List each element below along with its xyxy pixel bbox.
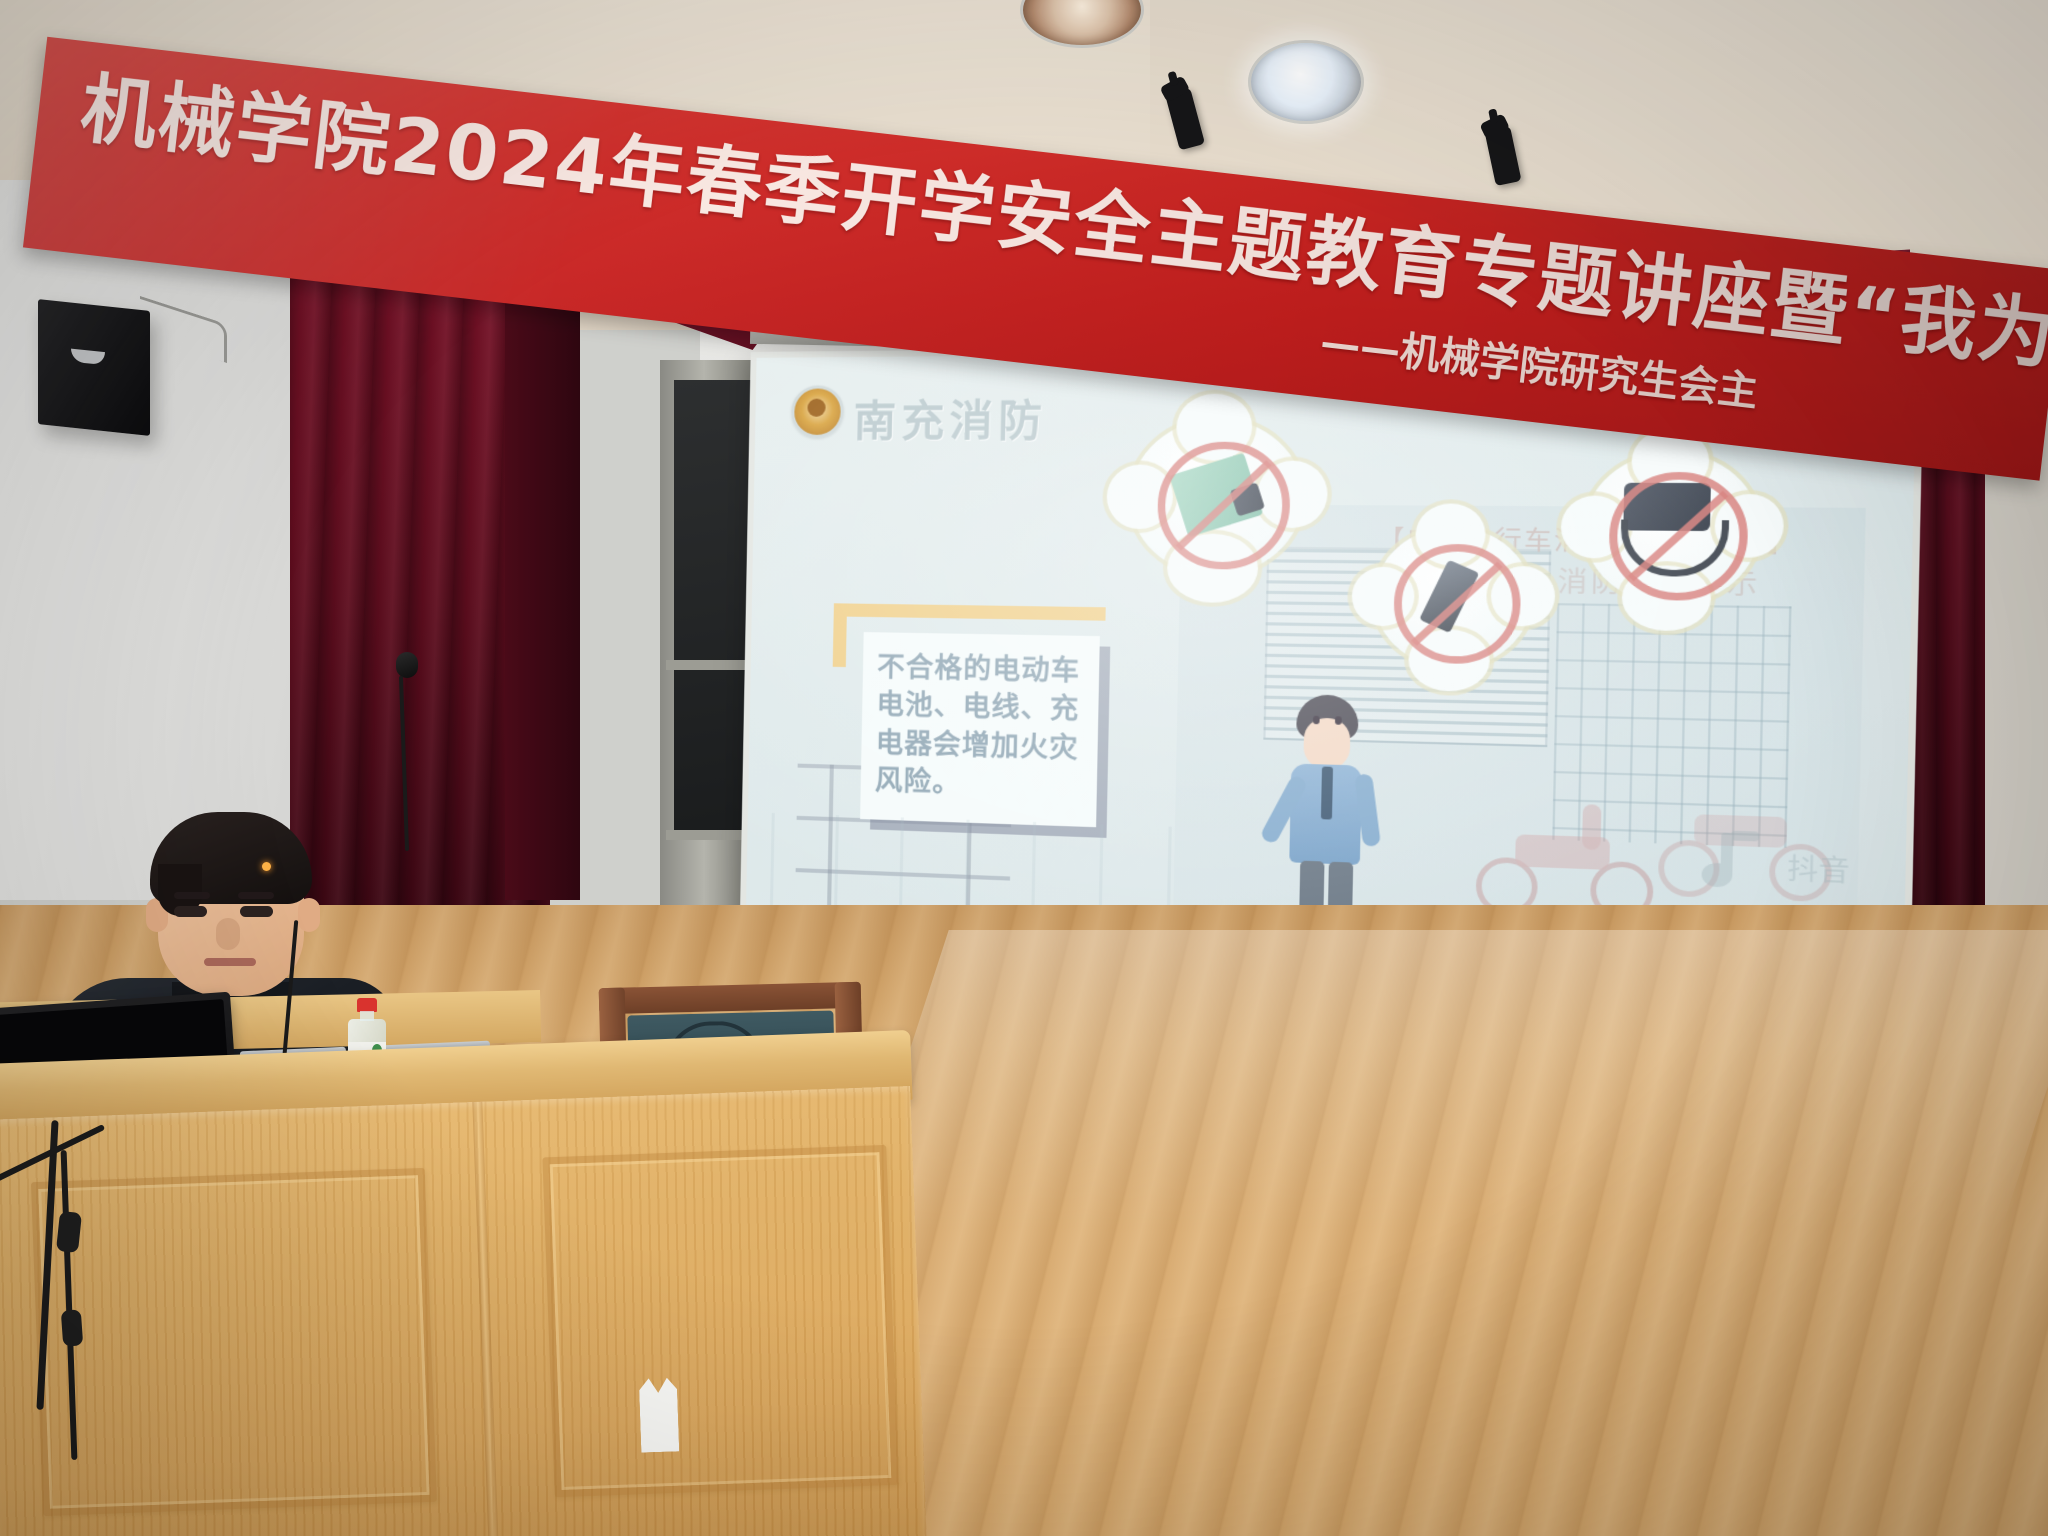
- podium-seam: [472, 1102, 499, 1536]
- mic-capsule-left: [396, 652, 418, 678]
- downlight-cool-icon: [1248, 40, 1364, 124]
- lecture-hall-scene: 南充消防 【电动自行车消防安全警示片】 消防安全警示: [0, 0, 2048, 1536]
- cable-connector-2: [61, 1309, 83, 1346]
- bottle-cap: [357, 998, 377, 1012]
- podium-panel-right: [542, 1145, 898, 1497]
- mic-indicator-led: [262, 862, 271, 871]
- officer-hair: [150, 812, 312, 904]
- podium-front: [0, 1086, 927, 1536]
- event-banner-subtitle: ——机械学院研究生会主: [1318, 309, 1762, 417]
- cable-connector-1: [56, 1211, 82, 1253]
- podium-panel-left: [31, 1168, 437, 1516]
